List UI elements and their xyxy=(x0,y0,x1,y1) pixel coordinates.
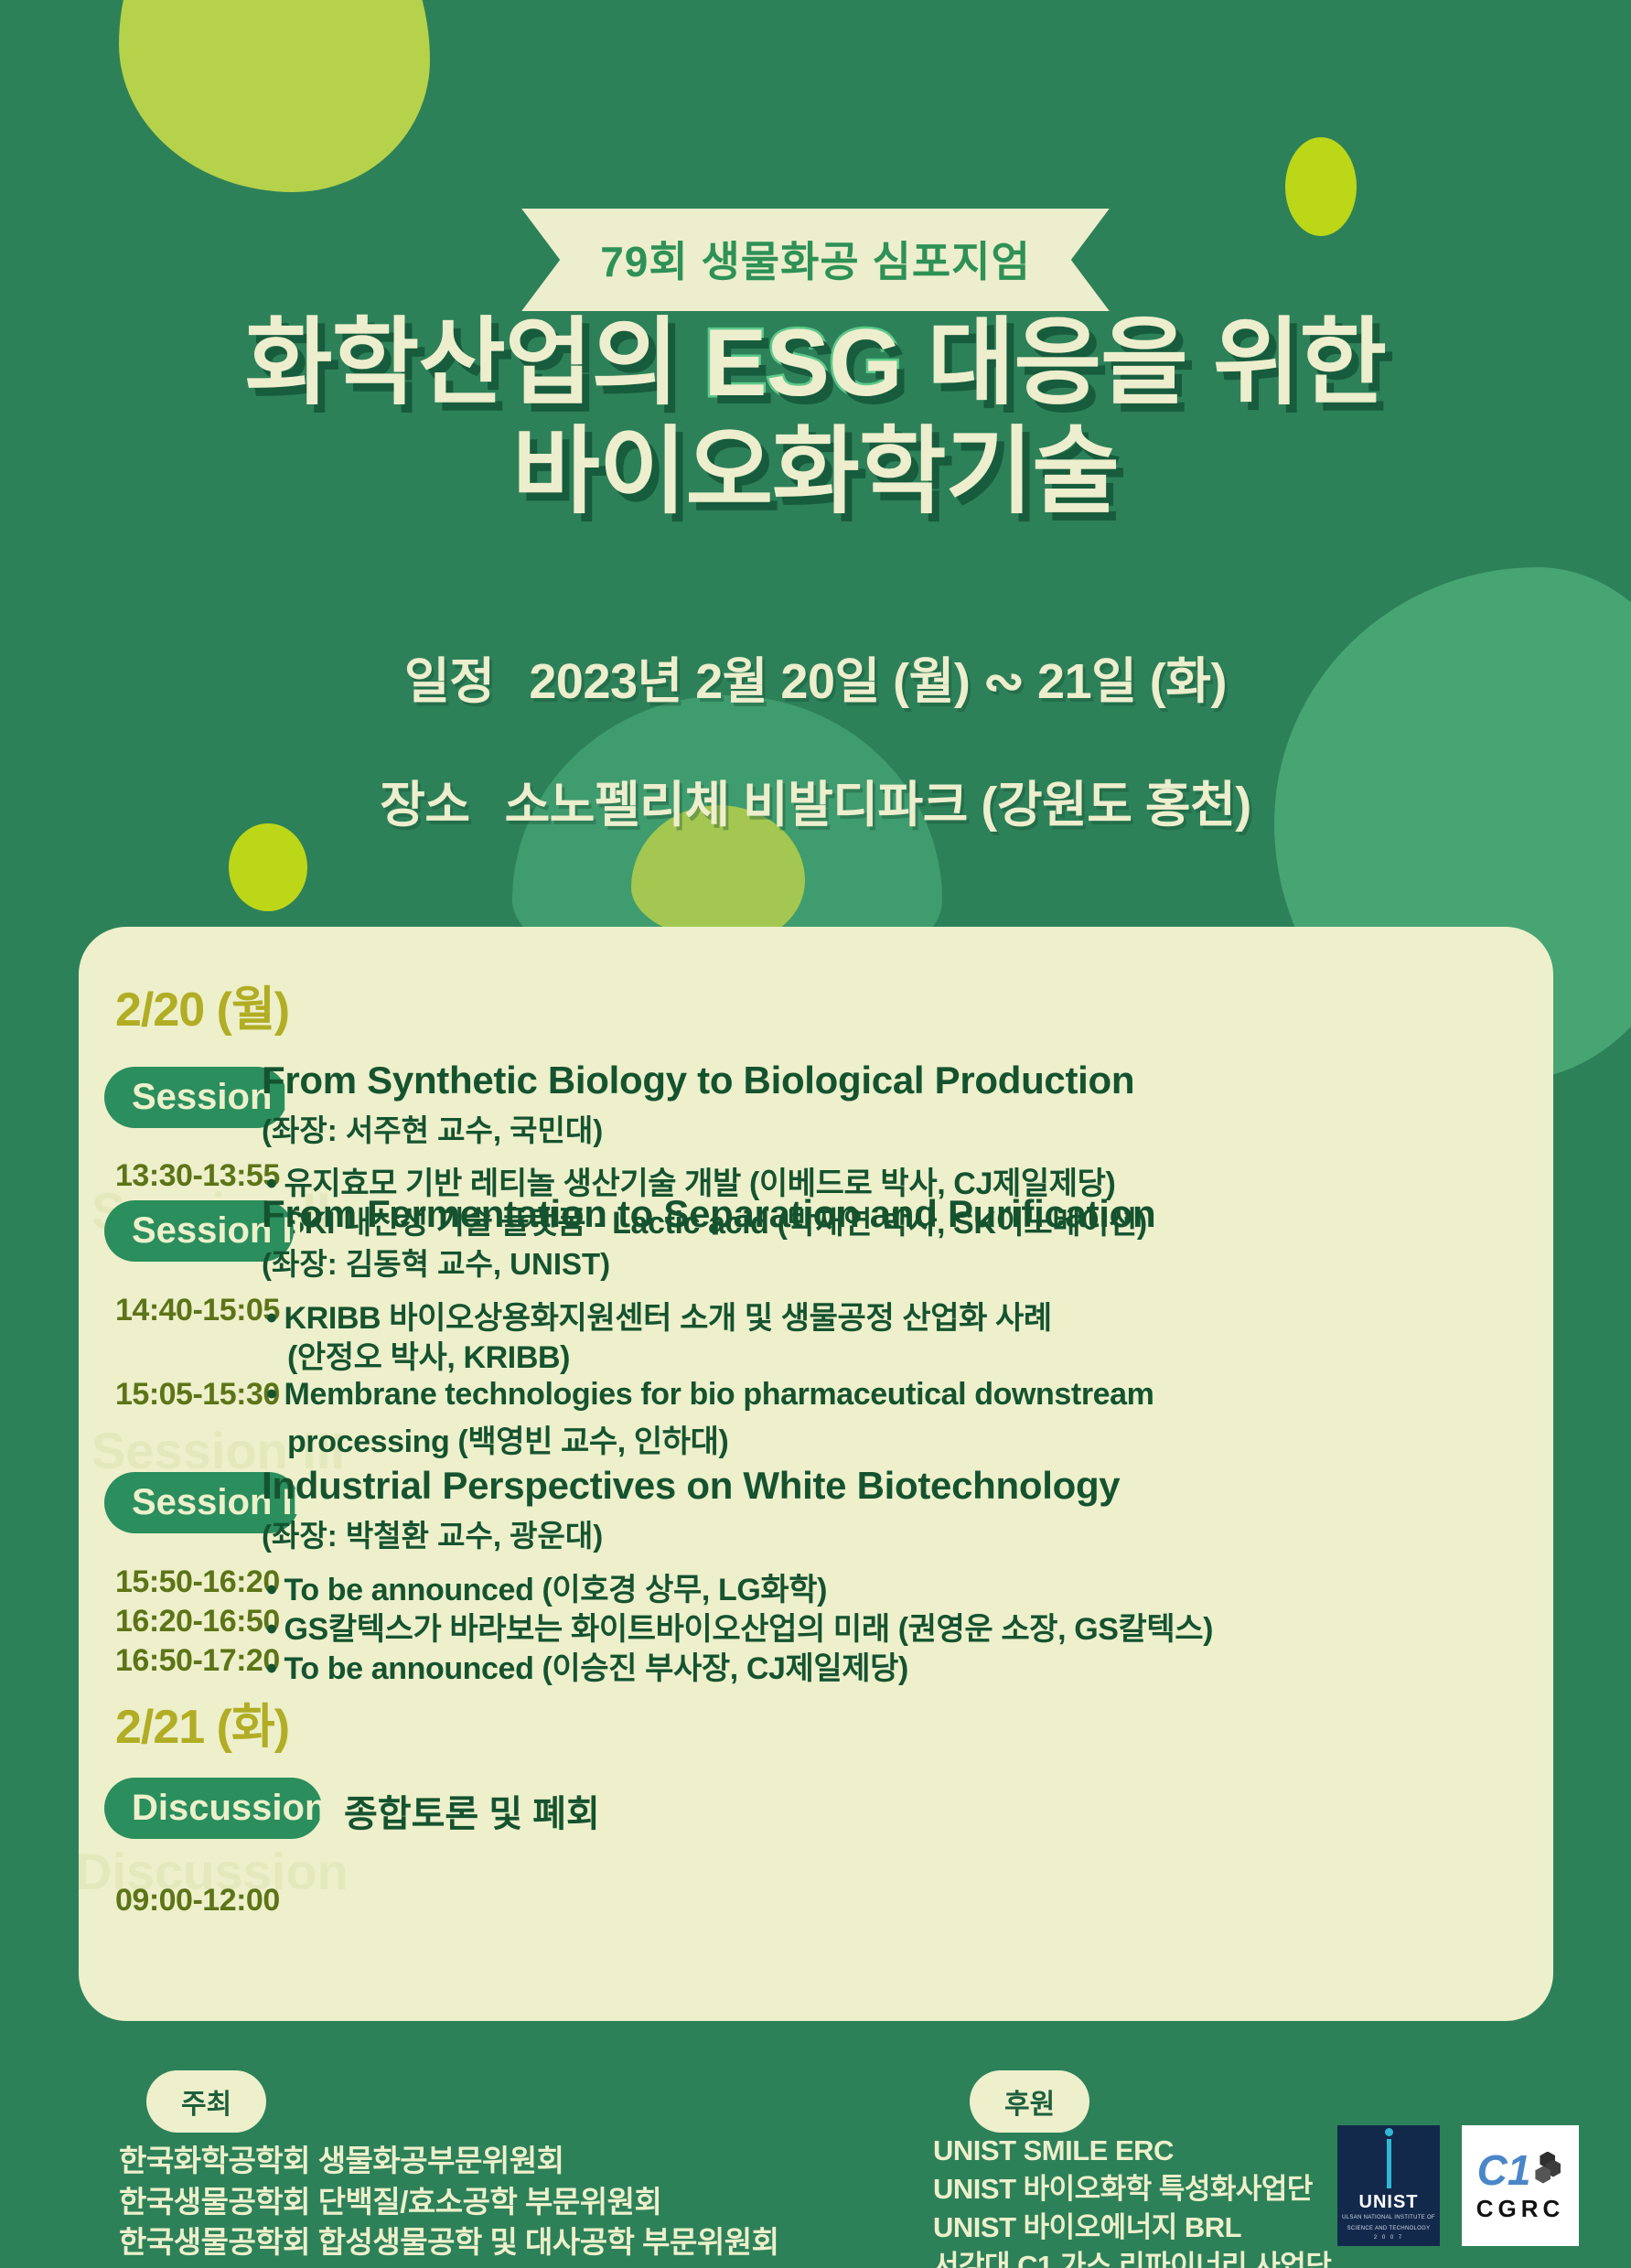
title-line-2: 바이오화학기술 xyxy=(0,418,1631,527)
session-title-1: From Synthetic Biology to Biological Pro… xyxy=(262,1059,1134,1102)
bullet-icon: • xyxy=(266,1651,277,1686)
unist-wordmark: UNIST xyxy=(1359,2193,1419,2211)
date-value: 2023년 2월 20일 (월) ∾ 21일 (화) xyxy=(529,654,1227,709)
hexagon-cluster-icon xyxy=(1532,2152,1563,2188)
talk-text: GS칼텍스가 바라보는 화이트바이오산업의 미래 (권영운 소장, GS칼텍스) xyxy=(284,1612,1214,1647)
event-meta: 일정2023년 2월 20일 (월) ∾ 21일 (화) 장소소노펠리체 비발디… xyxy=(0,640,1631,836)
unist-spark-icon xyxy=(1385,2128,1393,2136)
talk-time: 13:30-13:55 xyxy=(115,1158,280,1194)
talk-text: KRIBB 바이오상용화지원센터 소개 및 생물공정 산업화 사례 xyxy=(284,1301,1052,1336)
title-part-b: 대응을 위한 xyxy=(902,310,1386,416)
session-chair-1: (좌장: 서주현 교수, 국민대) xyxy=(262,1106,603,1150)
talk-text: To be announced (이승진 부사장, CJ제일제당) xyxy=(284,1651,908,1686)
unist-subtitle-line-2: SCIENCE AND TECHNOLOGY xyxy=(1347,2226,1431,2233)
host-item: 한국화학공학회 생물화공부문위원회 xyxy=(119,2141,778,2182)
bullet-icon: • xyxy=(266,1573,277,1607)
session-pill-1[interactable]: Session I xyxy=(104,1067,287,1128)
discussion-text: 종합토론 및 폐회 xyxy=(344,1784,600,1837)
sponsor-item: UNIST SMILE ERC xyxy=(933,2132,1331,2170)
unist-logo: UNIST ULSAN NATIONAL INSTITUTE OF SCIENC… xyxy=(1337,2125,1440,2246)
discussion-pill[interactable]: Discussion xyxy=(104,1778,322,1839)
event-venue-row: 장소소노펠리체 비발디파크 (강원도 홍천) xyxy=(0,764,1631,836)
c1-mark-row: C1 xyxy=(1477,2149,1564,2191)
event-date-row: 일정2023년 2월 20일 (월) ∾ 21일 (화) xyxy=(0,640,1631,713)
talk-time: 16:20-16:50 xyxy=(115,1604,280,1639)
talk-item: •KRIBB 바이오상용화지원센터 소개 및 생물공정 산업화 사례 xyxy=(266,1293,1052,1338)
poster-root: 79회 생물화공 심포지엄 화학산업의 ESG 대응을 위한 바이오화학기술 일… xyxy=(0,0,1631,2268)
session-title-3: Industrial Perspectives on White Biotech… xyxy=(262,1464,1120,1508)
sponsor-item: 서강대 C1 가스 리파이너리 사업단 xyxy=(933,2247,1331,2268)
unist-beam-icon xyxy=(1387,2139,1391,2188)
talk-item: •Membrane technologies for bio pharmaceu… xyxy=(266,1377,1154,1413)
bullet-icon: • xyxy=(266,1377,277,1412)
c1-cgrc-logo: C1 CGRC xyxy=(1462,2125,1579,2246)
sponsor-label-pill: 후원 xyxy=(970,2070,1089,2133)
unist-founding-year: 2 0 0 7 xyxy=(1374,2235,1403,2241)
host-list: 한국화학공학회 생물화공부문위원회 한국생물공학회 단백질/효소공학 부문위원회… xyxy=(119,2141,778,2263)
session-chair-2: (좌장: 김동혁 교수, UNIST) xyxy=(262,1240,610,1284)
title-esg-highlight: ESG xyxy=(703,310,902,416)
session-title-2: From Fermentation to Separation and Puri… xyxy=(262,1192,1155,1236)
talk-text-continued: processing (백영빈 교수, 인하대) xyxy=(287,1416,728,1461)
talk-text: To be announced (이호경 상무, LG화학) xyxy=(284,1573,828,1607)
ribbon-banner: 79회 생물화공 심포지엄 xyxy=(0,209,1631,311)
bullet-icon: • xyxy=(266,1612,277,1647)
talk-text-continued: (안정오 박사, KRIBB) xyxy=(287,1332,570,1377)
unist-subtitle-line-1: ULSAN NATIONAL INSTITUTE OF xyxy=(1342,2215,1435,2222)
title-part-a: 화학산업의 xyxy=(245,310,703,416)
sponsor-item: UNIST 바이오화학 특성화사업단 xyxy=(933,2170,1331,2209)
date-label: 일정 xyxy=(404,654,494,709)
venue-value: 소노펠리체 비발디파크 (강원도 홍천) xyxy=(505,778,1251,833)
decorative-dot-left xyxy=(229,823,307,911)
ribbon-label: 79회 생물화공 심포지엄 xyxy=(521,209,1110,311)
talk-time: 15:50-16:20 xyxy=(115,1564,280,1600)
host-label-pill: 주최 xyxy=(146,2070,266,2133)
poster-title: 화학산업의 ESG 대응을 위한 바이오화학기술 xyxy=(0,309,1631,526)
talk-time: 14:40-15:05 xyxy=(115,1293,280,1328)
host-item: 한국생물공학회 단백질/효소공학 부문위원회 xyxy=(119,2182,778,2223)
session-chair-3: (좌장: 박철환 교수, 광운대) xyxy=(262,1511,603,1555)
day-heading-1: 2/20 (월) xyxy=(115,971,289,1039)
talk-time: 16:50-17:20 xyxy=(115,1643,280,1679)
bullet-icon: • xyxy=(266,1301,277,1336)
sponsor-item: UNIST 바이오에너지 BRL xyxy=(933,2209,1331,2247)
talk-time: 15:05-15:30 xyxy=(115,1377,280,1413)
title-line-1: 화학산업의 ESG 대응을 위한 xyxy=(0,309,1631,418)
schedule-card: Session II Session III Discussion 2/20 (… xyxy=(79,927,1553,2021)
decorative-blob-top-left xyxy=(119,0,430,192)
talk-item: •GS칼텍스가 바라보는 화이트바이오산업의 미래 (권영운 소장, GS칼텍스… xyxy=(266,1604,1213,1649)
c1-mark: C1 xyxy=(1477,2149,1531,2191)
discussion-time: 09:00-12:00 xyxy=(115,1883,280,1919)
cgrc-mark: CGRC xyxy=(1476,2195,1565,2223)
talk-item: •To be announced (이호경 상무, LG화학) xyxy=(266,1564,827,1609)
venue-label: 장소 xyxy=(380,778,469,833)
day-heading-2: 2/21 (화) xyxy=(115,1688,289,1757)
talk-text: Membrane technologies for bio pharmaceut… xyxy=(284,1377,1154,1412)
sponsor-list: UNIST SMILE ERC UNIST 바이오화학 특성화사업단 UNIST… xyxy=(933,2132,1331,2268)
talk-item: •To be announced (이승진 부사장, CJ제일제당) xyxy=(266,1643,908,1688)
host-item: 한국생물공학회 합성생물공학 및 대사공학 부문위원회 xyxy=(119,2222,778,2263)
